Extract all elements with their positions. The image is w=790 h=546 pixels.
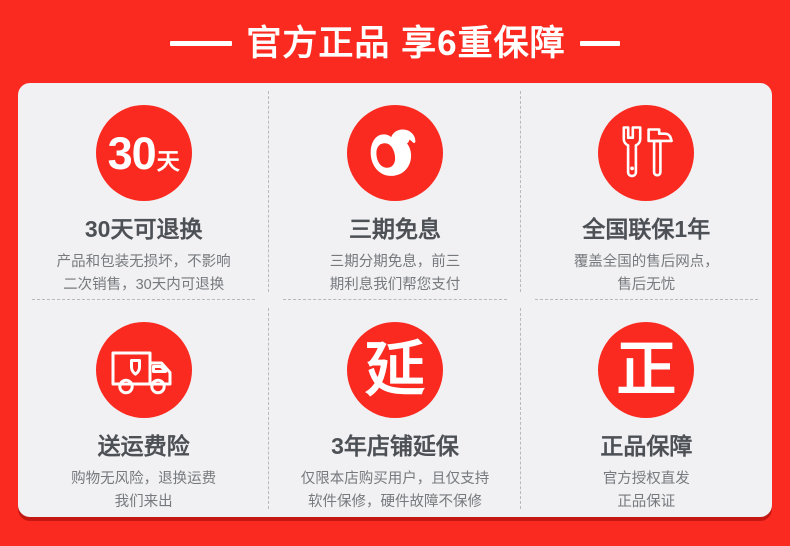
guarantee-title: 30天可退换 — [85, 217, 203, 242]
guarantee-desc: 官方授权直发 正品保证 — [603, 468, 690, 513]
page-header: 官方正品 享6重保障 — [0, 0, 790, 83]
guarantee-item-warranty[interactable]: 全国联保1年 覆盖全国的售后网点， 售后无忧 — [521, 83, 772, 300]
guarantee-desc-line: 三期分期免息，前三 — [330, 251, 461, 273]
guarantee-desc: 覆盖全国的售后网点， 售后无忧 — [574, 251, 719, 296]
guarantee-title: 送运费险 — [98, 434, 190, 459]
guarantee-desc-line: 二次销售，30天内可退换 — [57, 274, 231, 296]
guarantee-desc: 产品和包装无损坏，不影响 二次销售，30天内可退换 — [57, 251, 231, 296]
badge-character: 延 — [365, 340, 425, 400]
huabei-swirl-icon — [347, 105, 443, 201]
guarantee-desc-line: 期利息我们帮您支付 — [330, 274, 461, 296]
shield-truck-icon — [96, 322, 192, 418]
guarantee-item-authentic[interactable]: 正 正品保障 官方授权直发 正品保证 — [521, 300, 772, 517]
header-rule-left-icon — [170, 41, 232, 46]
guarantee-desc-line: 我们来出 — [71, 491, 216, 513]
guarantee-desc: 三期分期免息，前三 期利息我们帮您支付 — [330, 251, 461, 296]
wrench-hammer-icon — [598, 105, 694, 201]
guarantee-title: 全国联保1年 — [582, 217, 710, 242]
guarantee-desc-line: 产品和包装无损坏，不影响 — [57, 251, 231, 273]
guarantee-desc-line: 正品保证 — [603, 491, 690, 513]
guarantee-desc-line: 售后无忧 — [574, 274, 719, 296]
page-title: 官方正品 享6重保障 — [246, 26, 565, 61]
extended-warranty-char-icon: 延 — [347, 322, 443, 418]
guarantee-title: 三期免息 — [349, 217, 441, 242]
guarantee-desc-line: 官方授权直发 — [603, 468, 690, 490]
guarantee-card: 30 天 30天可退换 产品和包装无损坏，不影响 二次销售，30天内可退换 三期… — [18, 83, 772, 517]
guarantee-desc-line: 仅限本店购买用户，且仅支持 — [301, 468, 490, 490]
badge-character: 正 — [616, 340, 676, 400]
guarantee-title: 3年店铺延保 — [331, 434, 459, 459]
guarantee-item-shipping-insurance[interactable]: 送运费险 购物无风险，退换运费 我们来出 — [18, 300, 269, 517]
guarantee-title: 正品保障 — [600, 434, 692, 459]
guarantee-desc: 购物无风险，退换运费 我们来出 — [71, 468, 216, 513]
genuine-product-char-icon: 正 — [598, 322, 694, 418]
guarantee-desc-line: 软件保修，硬件故障不保修 — [301, 491, 490, 513]
badge-unit: 天 — [157, 150, 180, 173]
guarantee-desc-line: 覆盖全国的售后网点， — [574, 251, 719, 273]
badge-number: 30 — [108, 131, 156, 176]
guarantee-item-returns[interactable]: 30 天 30天可退换 产品和包装无损坏，不影响 二次销售，30天内可退换 — [18, 83, 269, 300]
thirty-days-badge-icon: 30 天 — [96, 105, 192, 201]
header-rule-right-icon — [580, 41, 620, 46]
guarantee-desc-line: 购物无风险，退换运费 — [71, 468, 216, 490]
guarantee-item-installment[interactable]: 三期免息 三期分期免息，前三 期利息我们帮您支付 — [269, 83, 520, 300]
guarantee-desc: 仅限本店购买用户，且仅支持 软件保修，硬件故障不保修 — [301, 468, 490, 513]
guarantee-grid: 30 天 30天可退换 产品和包装无损坏，不影响 二次销售，30天内可退换 三期… — [18, 83, 772, 517]
guarantee-item-extended-warranty[interactable]: 延 3年店铺延保 仅限本店购买用户，且仅支持 软件保修，硬件故障不保修 — [269, 300, 520, 517]
